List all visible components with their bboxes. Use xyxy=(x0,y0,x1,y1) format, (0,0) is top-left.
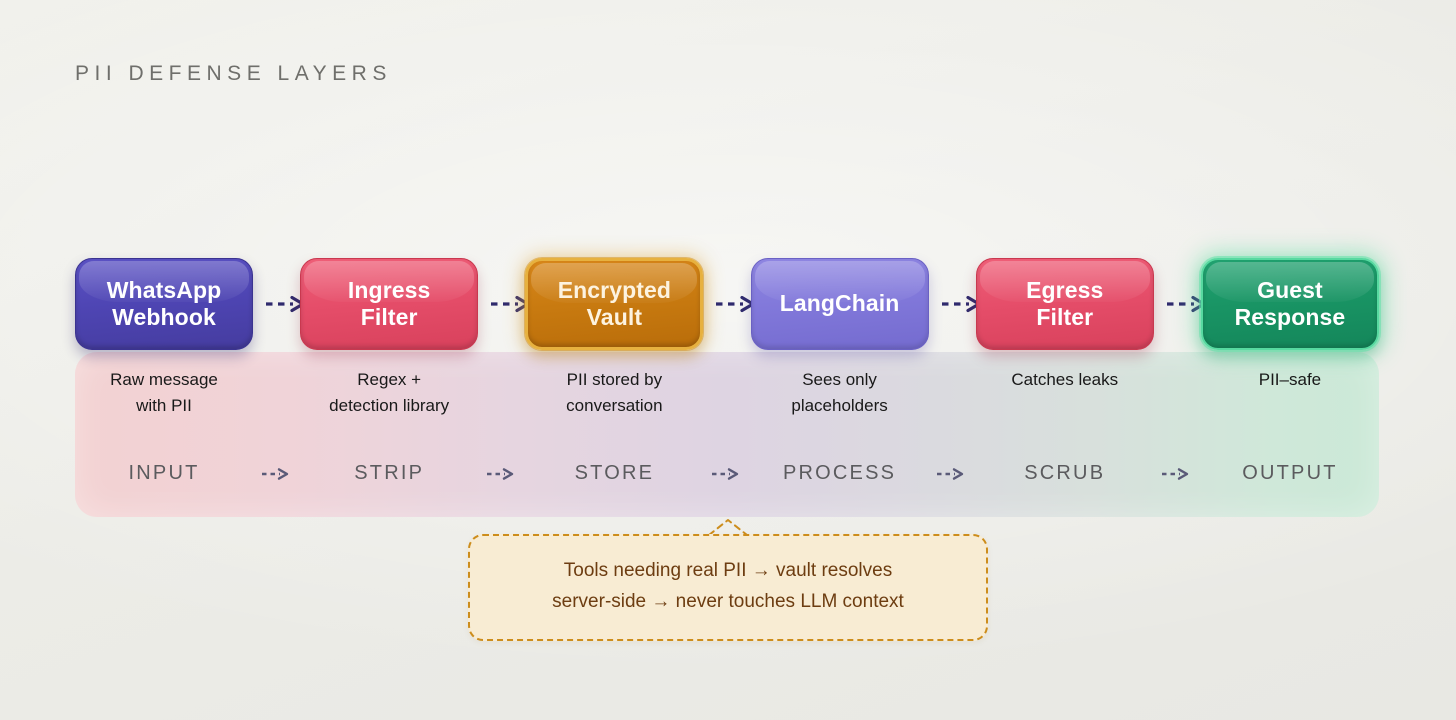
node-caption: Regex + detection library xyxy=(329,367,449,420)
stage-dashed-arrow-icon xyxy=(484,467,520,481)
pipeline-step-output: Guest Response PII–safe xyxy=(1201,258,1379,393)
node-caption: Raw message with PII xyxy=(110,367,218,420)
node-label: Ingress Filter xyxy=(348,277,431,331)
node-ingress-filter[interactable]: Ingress Filter xyxy=(300,258,478,350)
stage-label-row: INPUT STRIP STORE PROCESS SCRUB OUTPUT xyxy=(75,462,1379,485)
node-langchain[interactable]: LangChain xyxy=(751,258,929,350)
pipeline-step-scrub: Egress Filter Catches leaks xyxy=(976,258,1154,393)
stage-label-input: INPUT xyxy=(75,462,253,485)
stage-label-store: STORE xyxy=(525,462,703,485)
pipeline-step-input: WhatsApp Webhook Raw message with PII xyxy=(75,258,253,420)
node-label: Encrypted Vault xyxy=(558,277,671,331)
stage-dashed-arrow-icon xyxy=(259,467,295,481)
node-label: Egress Filter xyxy=(1026,277,1103,331)
node-encrypted-vault[interactable]: Encrypted Vault xyxy=(525,258,703,350)
node-caption: PII–safe xyxy=(1259,367,1321,393)
node-egress-filter[interactable]: Egress Filter xyxy=(976,258,1154,350)
pipeline-step-store: Encrypted Vault PII stored by conversati… xyxy=(525,258,703,420)
node-caption: Sees only placeholders xyxy=(791,367,887,420)
node-guest-response[interactable]: Guest Response xyxy=(1201,258,1379,350)
vault-callout: Tools needing real PII → vault resolves … xyxy=(468,534,988,641)
callout-line-1: Tools needing real PII → vault resolves xyxy=(494,556,962,587)
stage-label-process: PROCESS xyxy=(751,462,929,485)
pipeline-step-strip: Ingress Filter Regex + detection library xyxy=(300,258,478,420)
pipeline-row: WhatsApp Webhook Raw message with PII In… xyxy=(75,258,1379,420)
pipeline-step-process: LangChain Sees only placeholders xyxy=(751,258,929,420)
stage-label-scrub: SCRUB xyxy=(976,462,1154,485)
page-title: PII DEFENSE LAYERS xyxy=(75,62,392,86)
callout-box: Tools needing real PII → vault resolves … xyxy=(468,534,988,641)
stage-dashed-arrow-icon xyxy=(709,467,745,481)
node-whatsapp-webhook[interactable]: WhatsApp Webhook xyxy=(75,258,253,350)
node-label: LangChain xyxy=(780,290,900,317)
stage-label-output: OUTPUT xyxy=(1201,462,1379,485)
stage-dashed-arrow-icon xyxy=(1159,467,1195,481)
node-caption: PII stored by conversation xyxy=(566,367,662,420)
stage-label-strip: STRIP xyxy=(300,462,478,485)
callout-line-2: server-side → never touches LLM context xyxy=(494,587,962,618)
node-caption: Catches leaks xyxy=(1011,367,1118,393)
stage-dashed-arrow-icon xyxy=(934,467,970,481)
node-label: WhatsApp Webhook xyxy=(107,277,222,331)
node-label: Guest Response xyxy=(1235,277,1346,331)
